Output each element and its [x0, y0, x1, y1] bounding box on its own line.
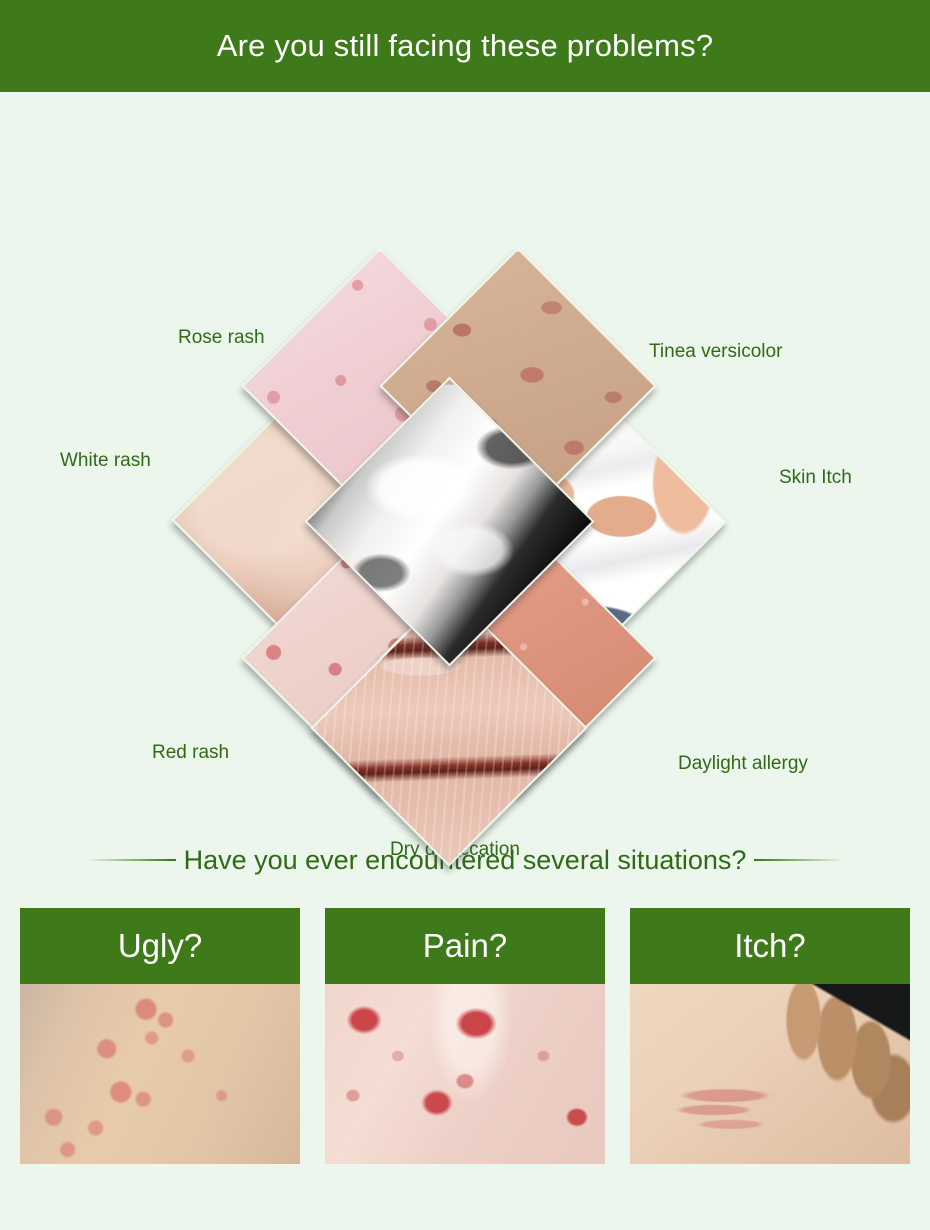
card-pain-title: Pain?: [423, 927, 507, 965]
header-banner: Are you still facing these problems?: [0, 0, 930, 92]
collage-label-white-rash: White rash: [60, 450, 151, 472]
page-title: Are you still facing these problems?: [217, 28, 714, 64]
collage-label-skin-itch: Skin Itch: [779, 467, 852, 489]
card-pain-header: Pain?: [325, 908, 605, 984]
card-itch-photo: [630, 984, 910, 1164]
card-itch-title: Itch?: [734, 927, 806, 965]
divider-line-right: [754, 859, 844, 861]
card-pain: Pain?: [325, 908, 605, 1178]
situation-cards: Ugly? Pain? Itch?: [0, 908, 930, 1178]
collage-label-daylight-allergy: Daylight allergy: [678, 753, 808, 775]
card-pain-photo: [325, 984, 605, 1164]
card-ugly-header: Ugly?: [20, 908, 300, 984]
card-itch-header: Itch?: [630, 908, 910, 984]
divider-line-left: [86, 859, 176, 861]
card-ugly-title: Ugly?: [118, 927, 202, 965]
collage-label-red-rash: Red rash: [152, 742, 229, 764]
card-ugly-photo: [20, 984, 300, 1164]
card-ugly: Ugly?: [20, 908, 300, 1178]
collage-label-tinea-versicolor: Tinea versicolor: [649, 341, 782, 363]
collage-section: Rose rash Tinea versicolor White rash Sk…: [0, 92, 930, 812]
card-itch: Itch?: [630, 908, 910, 1178]
collage-label-rose-rash: Rose rash: [178, 327, 265, 349]
